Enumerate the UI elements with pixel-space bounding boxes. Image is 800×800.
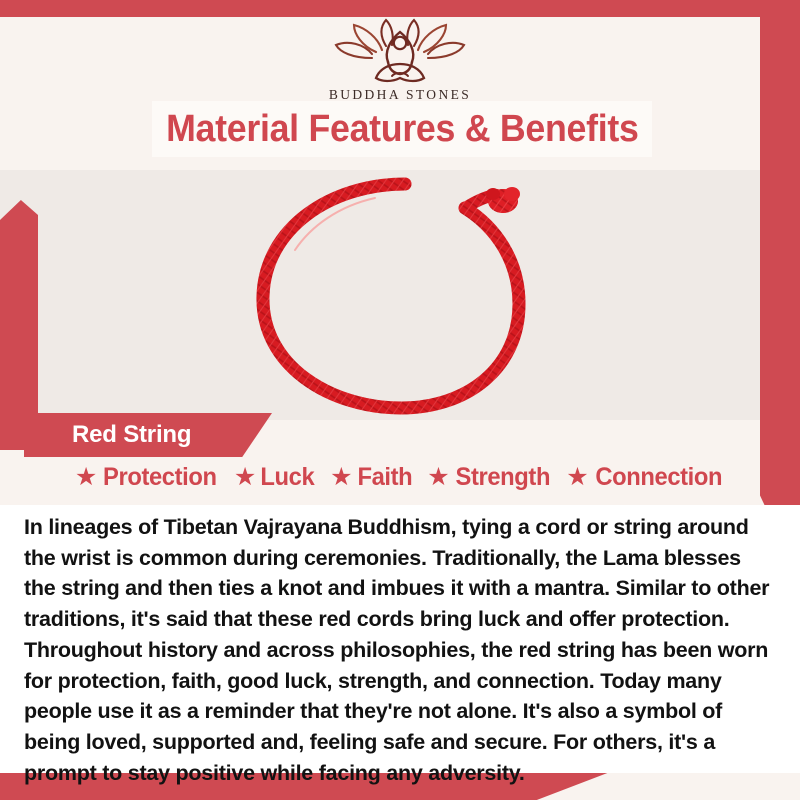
product-name-ribbon: Red String [24, 413, 272, 457]
decorative-top-red-bar [0, 0, 800, 17]
red-string-bracelet-illustration [235, 170, 565, 420]
feature-label: Faith [357, 463, 412, 492]
feature-label: Protection [103, 463, 217, 492]
lotus-meditation-icon [332, 18, 468, 86]
star-icon: ★ [427, 465, 449, 490]
star-icon: ★ [566, 465, 588, 490]
star-icon: ★ [75, 465, 97, 490]
features-list: ★ Protection ★ Luck ★ Faith ★ Strength ★… [0, 463, 800, 492]
material-features-poster: BUDDHA STONES Material Features & Benefi… [0, 0, 800, 800]
product-image [0, 170, 800, 420]
star-icon: ★ [234, 465, 256, 490]
product-name-label: Red String [72, 421, 191, 449]
title-band: Material Features & Benefits [152, 101, 652, 157]
star-icon: ★ [330, 465, 352, 490]
feature-label: Luck [261, 463, 315, 492]
brand-logo: BUDDHA STONES [0, 18, 800, 106]
feature-item-faith: ★ Faith [325, 463, 418, 492]
feature-item-luck: ★ Luck [229, 463, 321, 492]
feature-item-protection: ★ Protection [70, 463, 225, 492]
feature-label: Strength [455, 463, 550, 492]
feature-label: Connection [595, 463, 722, 492]
feature-item-strength: ★ Strength [422, 463, 557, 492]
page-title: Material Features & Benefits [166, 108, 638, 151]
description-text: In lineages of Tibetan Vajrayana Buddhis… [24, 512, 776, 788]
feature-item-connection: ★ Connection [561, 463, 730, 492]
